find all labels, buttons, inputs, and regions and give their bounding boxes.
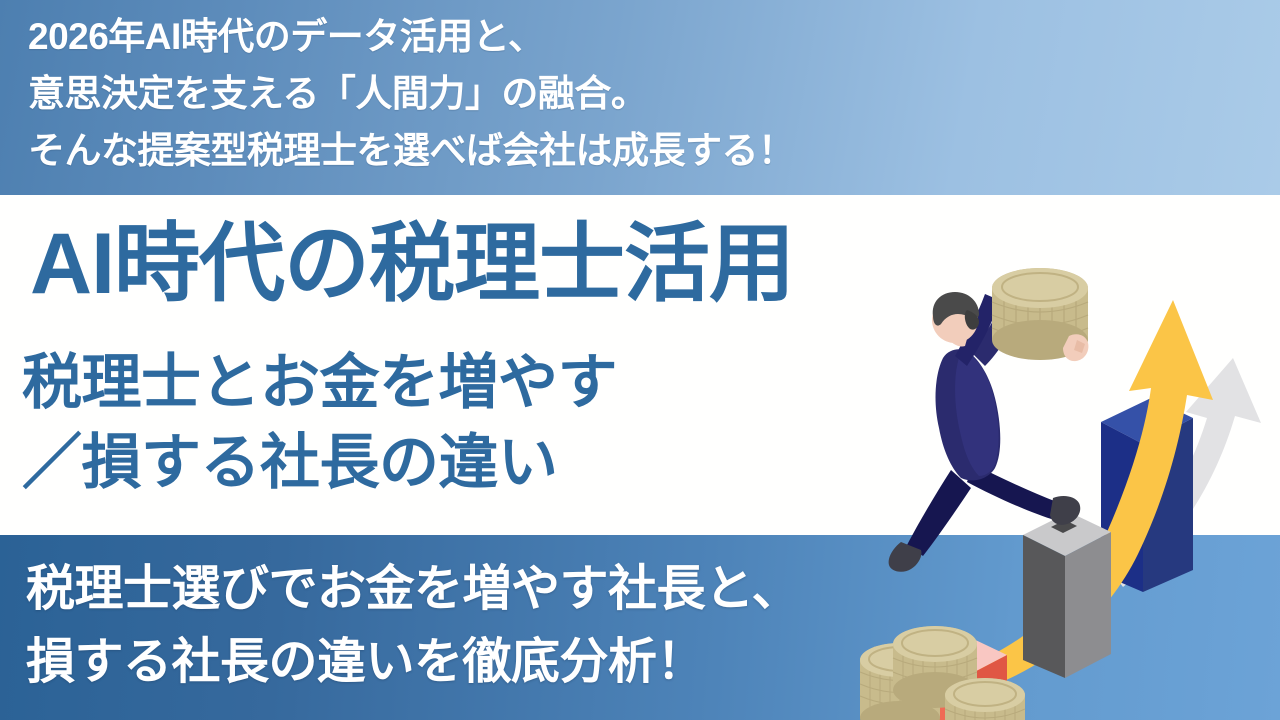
middle-white-section: AI時代の税理士活用 税理士とお金を増やす ／損する社長の違い	[0, 195, 1280, 535]
top-banner: 2026年AI時代のデータ活用と、 意思決定を支える「人間力」の融合。 そんな提…	[0, 0, 1280, 195]
thumbnail-canvas: 2026年AI時代のデータ活用と、 意思決定を支える「人間力」の融合。 そんな提…	[0, 0, 1280, 720]
page-subtitle: 税理士とお金を増やす ／損する社長の違い	[22, 343, 617, 503]
top-banner-line-3: そんな提案型税理士を選べば会社は成長する！	[28, 122, 1128, 179]
page-title: AI時代の税理士活用	[30, 218, 794, 310]
page-subtitle-line-2: ／損する社長の違い	[22, 423, 617, 503]
bottom-banner-line-1: 税理士選びでお金を増やす社長と、	[26, 553, 1026, 626]
bottom-banner-line-2: 損する社長の違いを徹底分析！	[26, 626, 1026, 699]
bottom-banner-text-block: 税理士選びでお金を増やす社長と、 損する社長の違いを徹底分析！	[26, 553, 1026, 699]
top-banner-line-2: 意思決定を支える「人間力」の融合。	[28, 65, 1128, 122]
bottom-banner: 税理士選びでお金を増やす社長と、 損する社長の違いを徹底分析！	[0, 535, 1280, 720]
top-banner-text-block: 2026年AI時代のデータ活用と、 意思決定を支える「人間力」の融合。 そんな提…	[28, 8, 1128, 179]
top-banner-line-1: 2026年AI時代のデータ活用と、	[28, 8, 1128, 65]
page-subtitle-line-1: 税理士とお金を増やす	[22, 343, 617, 423]
